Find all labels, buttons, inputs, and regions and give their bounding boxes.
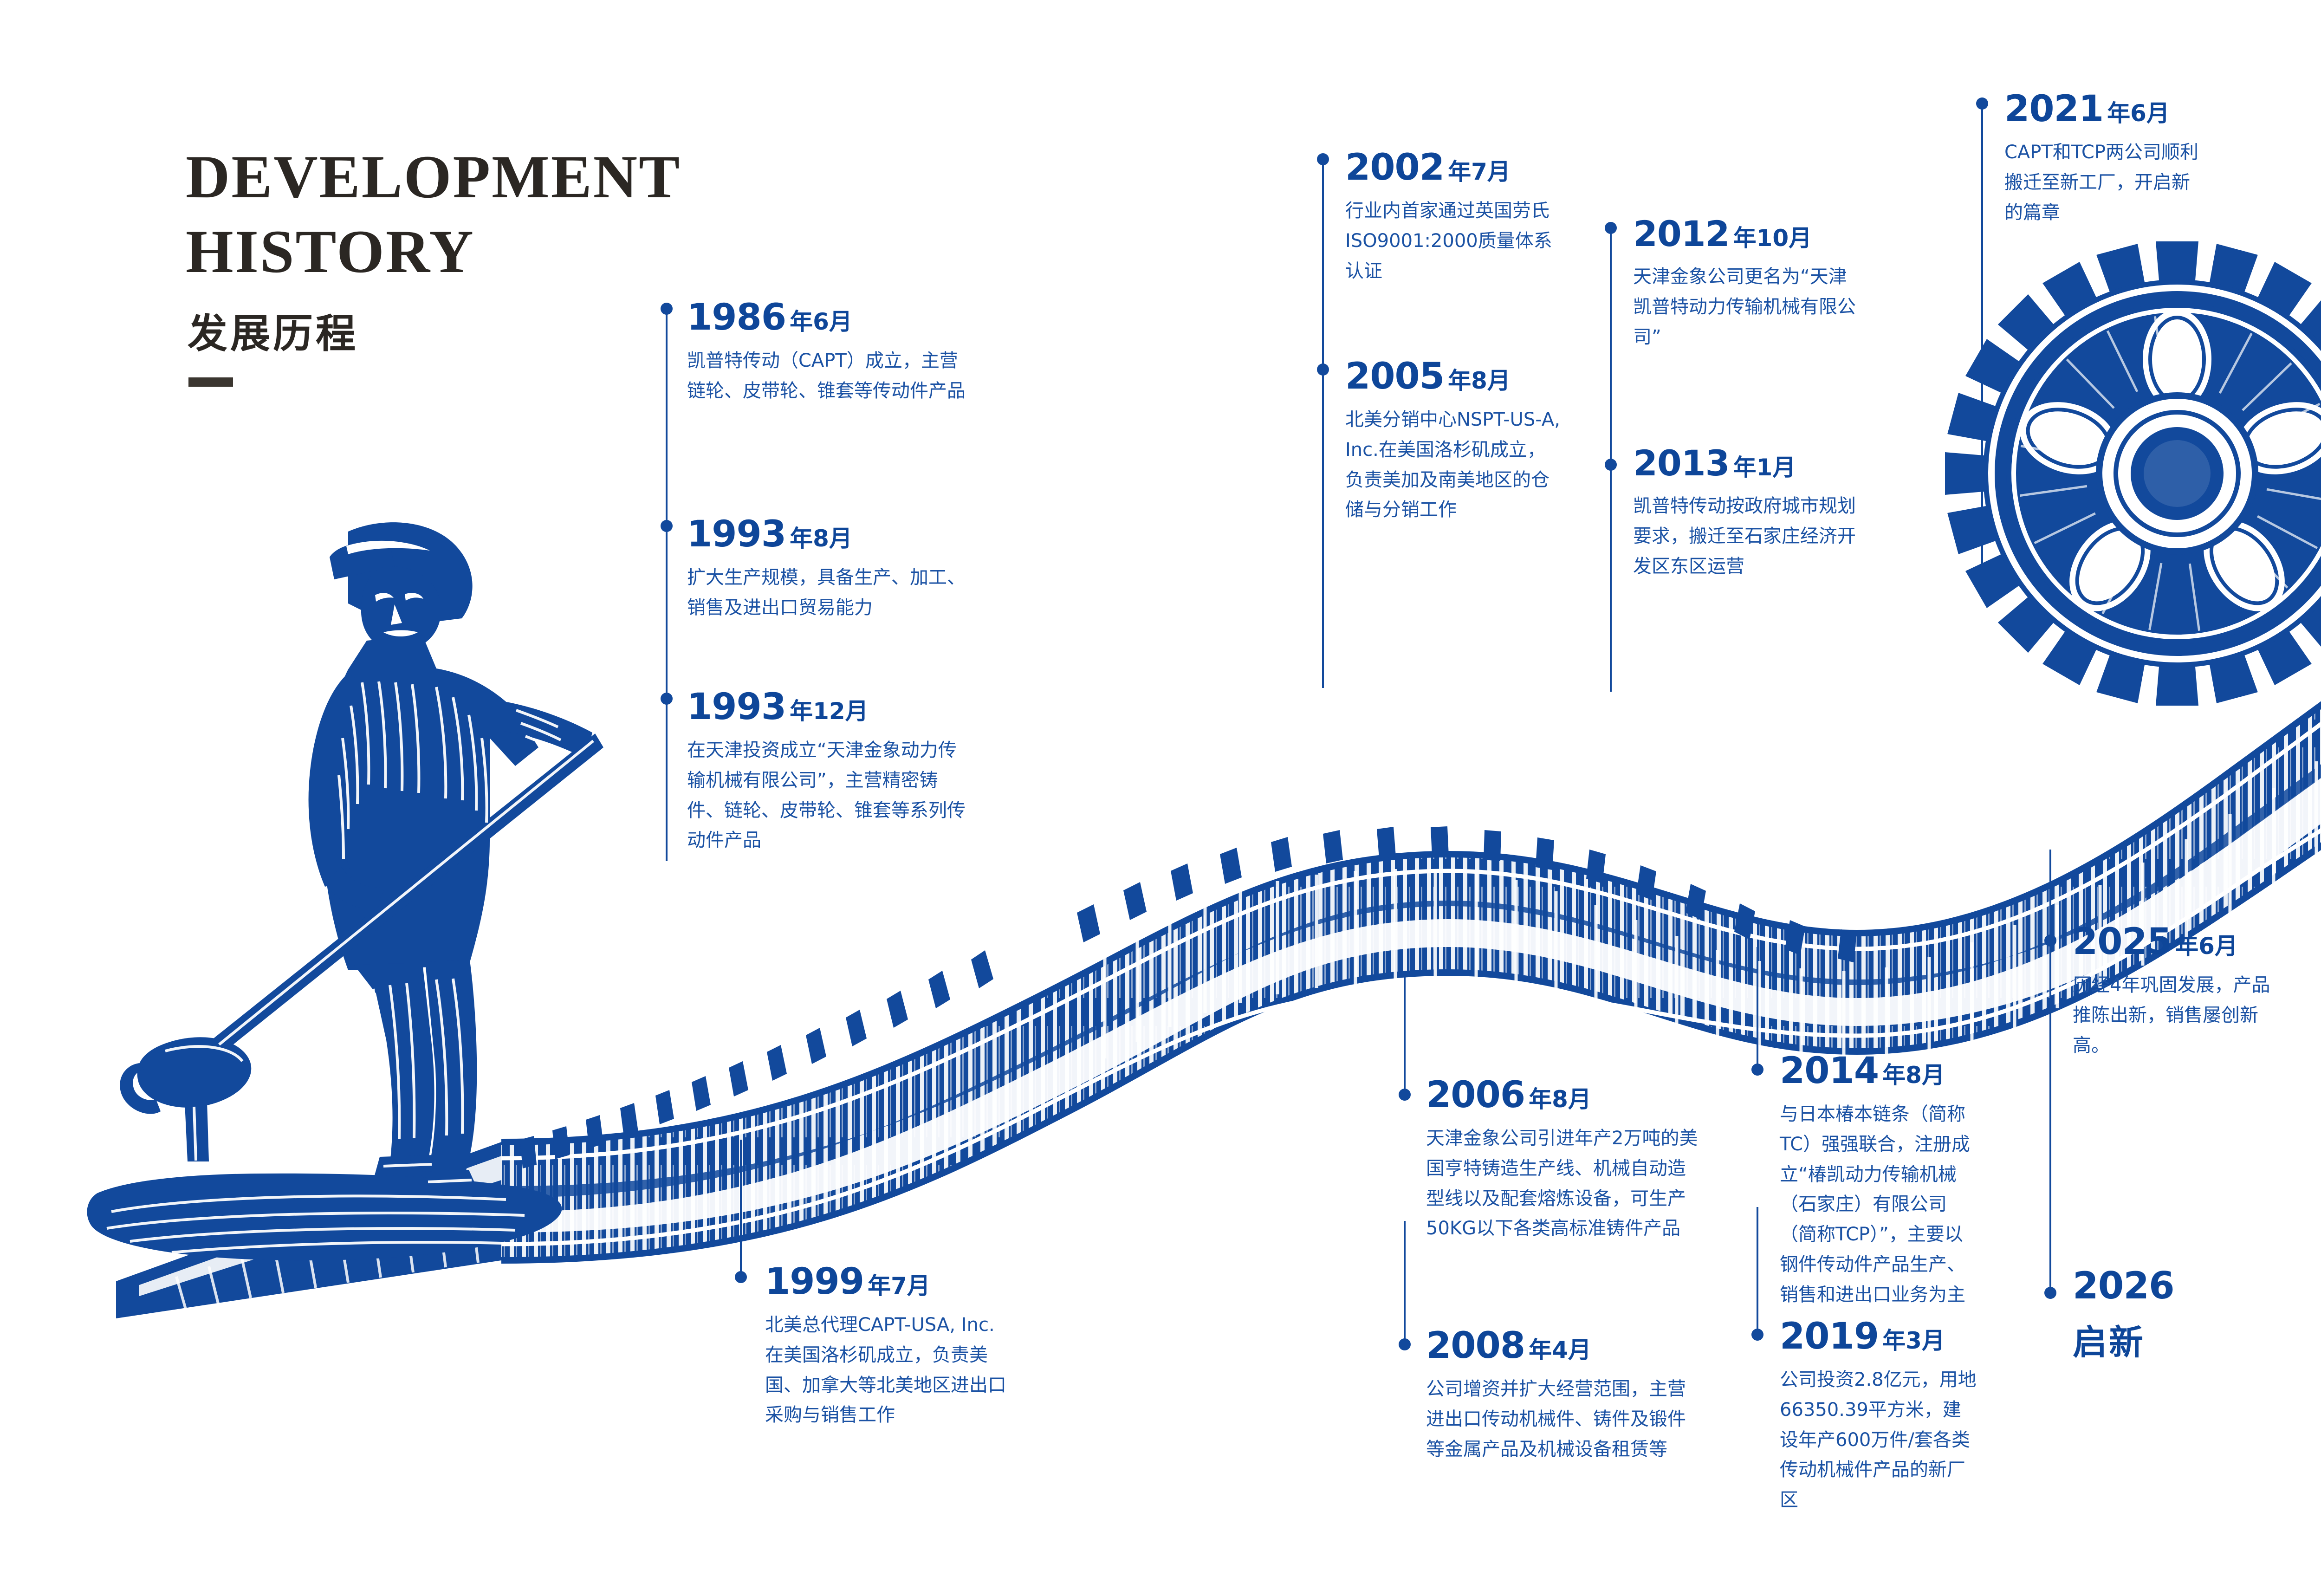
timeline-dot-2019-03 xyxy=(1751,1329,1763,1341)
timeline-entry-1999-07[interactable]: 1999年7月 北美总代理CAPT-USA, Inc.在美国洛杉矶成立，负责美国… xyxy=(765,1264,1011,1430)
timeline-dot-1986-06 xyxy=(661,303,673,315)
timeline-entry-2019-03[interactable]: 2019年3月 公司投资2.8亿元，用地66350.39平方米，建设年产600万… xyxy=(1780,1318,1979,1515)
entry-heading: 2019年3月 xyxy=(1780,1318,1979,1355)
timeline-entry-2025-06[interactable]: 2025年6月 历经4年巩固发展，产品推陈出新，销售屡创新高。 xyxy=(2073,924,2272,1060)
entry-month: 年1月 xyxy=(1733,454,1796,481)
timeline-dot-2002-07 xyxy=(1317,153,1329,165)
entry-year: 2012 xyxy=(1633,213,1730,254)
entry-year: 2019 xyxy=(1780,1316,1879,1357)
timeline-dot-2013-01 xyxy=(1605,459,1617,471)
connector-line-left-group xyxy=(666,309,668,861)
timeline-entry-2005-08[interactable]: 2005年8月 北美分销中心NSPT-US-A, Inc.在美国洛杉矶成立，负责… xyxy=(1345,358,1563,525)
entry-month: 年6月 xyxy=(790,308,852,335)
entry-year: 2026 xyxy=(2073,1264,2174,1307)
entry-heading: 2008年4月 xyxy=(1426,1328,1700,1364)
poster-canvas: DEVELOPMENT HISTORY 发展历程 1986年6月 凯普特传动（C… xyxy=(0,0,2321,1596)
entry-heading: 2025年6月 xyxy=(2073,924,2272,960)
connector-line-2014-08 xyxy=(1757,947,1758,1068)
entry-description: 北美分销中心NSPT-US-A, Inc.在美国洛杉矶成立，负责美加及南美地区的… xyxy=(1345,405,1563,525)
connector-line-2006-08 xyxy=(1404,975,1406,1091)
timeline-dot-2026 xyxy=(2044,1287,2056,1299)
entry-month: 年8月 xyxy=(1448,367,1511,394)
entry-year: 2014 xyxy=(1780,1050,1879,1092)
page-title-block: DEVELOPMENT HISTORY 发展历程 xyxy=(186,139,681,387)
entry-month: 年8月 xyxy=(1882,1062,1945,1089)
entry-heading: 2005年8月 xyxy=(1345,358,1563,395)
entry-description: 凯普特传动（CAPT）成立，主营链轮、皮带轮、锥套等传动件产品 xyxy=(687,346,966,406)
entry-year: 2021 xyxy=(2004,88,2103,130)
entry-description: 北美总代理CAPT-USA, Inc.在美国洛杉矶成立，负责美国、加拿大等北美地… xyxy=(765,1310,1011,1430)
timeline-dot-2012-10 xyxy=(1605,222,1617,234)
entry-final-label: 启新 xyxy=(2073,1315,2272,1364)
timeline-entry-2021-06[interactable]: 2021年6月 CAPT和TCP两公司顺利搬迁至新工厂，开启新的篇章 xyxy=(2004,91,2204,227)
entry-year: 1986 xyxy=(687,297,786,338)
entry-year: 2013 xyxy=(1633,442,1730,484)
timeline-dot-2008-04 xyxy=(1399,1338,1411,1350)
timeline-entry-2014-08[interactable]: 2014年8月 与日本椿本链条（简称TC）强强联合，注册成立“椿凯动力传输机械（… xyxy=(1780,1053,1975,1310)
entry-year: 2006 xyxy=(1426,1074,1525,1116)
entry-heading: 1993年12月 xyxy=(687,689,966,725)
entry-year: 1993 xyxy=(687,513,786,555)
entry-month: 年7月 xyxy=(1448,158,1511,185)
entry-description: 天津金象公司更名为“天津凯普特动力传输机械有限公司” xyxy=(1633,262,1861,352)
entry-description: 天津金象公司引进年产2万吨的美国亨特铸造生产线、机械自动造型线以及配套熔炼设备，… xyxy=(1426,1123,1700,1244)
entry-year: 2002 xyxy=(1345,147,1444,188)
entry-year: 1999 xyxy=(765,1261,864,1303)
entry-month: 年8月 xyxy=(790,525,852,552)
timeline-dot-2006-08 xyxy=(1399,1089,1411,1101)
timeline-entry-2013-01[interactable]: 2013年1月 凯普特传动按政府城市规划要求，搬迁至石家庄经济开发区东区运营 xyxy=(1633,446,1856,581)
page-title-en: DEVELOPMENT HISTORY xyxy=(186,139,681,289)
entry-heading: 2021年6月 xyxy=(2004,91,2204,127)
entry-heading: 2012年10月 xyxy=(1633,216,1861,252)
timeline-dot-1993-12 xyxy=(661,693,673,705)
timeline-entry-1986-06[interactable]: 1986年6月 凯普特传动（CAPT）成立，主营链轮、皮带轮、锥套等传动件产品 xyxy=(687,299,966,406)
entry-description: 历经4年巩固发展，产品推陈出新，销售屡创新高。 xyxy=(2073,970,2272,1060)
entry-description: 与日本椿本链条（简称TC）强强联合，注册成立“椿凯动力传输机械（石家庄）有限公司… xyxy=(1780,1099,1975,1310)
entry-month: 年8月 xyxy=(1529,1086,1591,1113)
timeline-entry-1993-12[interactable]: 1993年12月 在天津投资成立“天津金象动力传输机械有限公司”，主营精密铸件、… xyxy=(687,689,966,856)
entry-month: 年7月 xyxy=(868,1272,930,1299)
entry-description: CAPT和TCP两公司顺利搬迁至新工厂，开启新的篇章 xyxy=(2004,137,2204,227)
timeline-dot-2014-08 xyxy=(1751,1064,1763,1076)
entry-description: 公司投资2.8亿元，用地66350.39平方米，建设年产600万件/套各类传动机… xyxy=(1780,1365,1979,1515)
timeline-entry-2012-10[interactable]: 2012年10月 天津金象公司更名为“天津凯普特动力传输机械有限公司” xyxy=(1633,216,1861,352)
timeline-entry-2008-04[interactable]: 2008年4月 公司增资并扩大经营范围，主营进出口传动机械件、铸件及锻件等金属产… xyxy=(1426,1328,1700,1464)
timeline-entry-2006-08[interactable]: 2006年8月 天津金象公司引进年产2万吨的美国亨特铸造生产线、机械自动造型线以… xyxy=(1426,1077,1700,1244)
entry-year: 2005 xyxy=(1345,356,1444,397)
entry-heading: 2006年8月 xyxy=(1426,1077,1700,1113)
timeline-dot-1999-07 xyxy=(735,1271,747,1283)
entry-description: 扩大生产规模，具备生产、加工、销售及进出口贸易能力 xyxy=(687,563,975,623)
entry-month: 年4月 xyxy=(1529,1336,1591,1363)
entry-heading: 2002年7月 xyxy=(1345,149,1559,186)
entry-description: 在天津投资成立“天津金象动力传输机械有限公司”，主营精密铸件、链轮、皮带轮、锥套… xyxy=(687,735,966,856)
entry-heading: 1986年6月 xyxy=(687,299,966,336)
timeline-dot-2025-06 xyxy=(2044,934,2056,947)
entry-month: 年6月 xyxy=(2107,100,2170,127)
entry-month: 年6月 xyxy=(2175,933,2238,960)
entry-month: 年12月 xyxy=(790,698,869,725)
connector-line-2021-06 xyxy=(1981,103,1983,577)
entry-description: 凯普特传动按政府城市规划要求，搬迁至石家庄经济开发区东区运营 xyxy=(1633,491,1856,581)
timeline-entry-1993-08[interactable]: 1993年8月 扩大生产规模，具备生产、加工、销售及进出口贸易能力 xyxy=(687,516,975,623)
timeline-dot-1993-08 xyxy=(661,520,673,532)
timeline-entry-2026[interactable]: 2026 启新 xyxy=(2073,1267,2272,1364)
entry-month: 年3月 xyxy=(1882,1327,1945,1354)
entry-year: 2025 xyxy=(2073,921,2172,963)
timeline-dot-2021-06 xyxy=(1976,97,1988,110)
entry-month: 年10月 xyxy=(1733,225,1812,252)
foundry-worker-illustration xyxy=(70,487,603,1314)
timeline-dot-2005-08 xyxy=(1317,363,1329,376)
title-underline-rule xyxy=(188,377,233,387)
entry-year: 2008 xyxy=(1426,1325,1525,1367)
connector-line-2002-2005-group xyxy=(1322,159,1324,688)
entry-heading: 2013年1月 xyxy=(1633,446,1856,481)
entry-description: 公司增资并扩大经营范围，主营进出口传动机械件、铸件及锻件等金属产品及机械设备租赁… xyxy=(1426,1374,1700,1464)
connector-line-1999-07 xyxy=(740,1140,742,1274)
entry-heading: 2014年8月 xyxy=(1780,1053,1975,1089)
entry-heading: 1993年8月 xyxy=(687,516,975,552)
connector-line-2025-2026-group xyxy=(2049,850,2051,1295)
connector-line-2019-03 xyxy=(1757,1207,1758,1332)
entry-heading: 1999年7月 xyxy=(765,1264,1011,1300)
entry-year: 1993 xyxy=(687,686,786,728)
connector-line-2008-04 xyxy=(1404,1221,1406,1342)
entry-heading: 2026 xyxy=(2073,1267,2272,1304)
timeline-entry-2002-07[interactable]: 2002年7月 行业内首家通过英国劳氏ISO9001:2000质量体系认证 xyxy=(1345,149,1559,286)
entry-description: 行业内首家通过英国劳氏ISO9001:2000质量体系认证 xyxy=(1345,196,1559,286)
page-title-cn: 发展历程 xyxy=(188,301,681,359)
